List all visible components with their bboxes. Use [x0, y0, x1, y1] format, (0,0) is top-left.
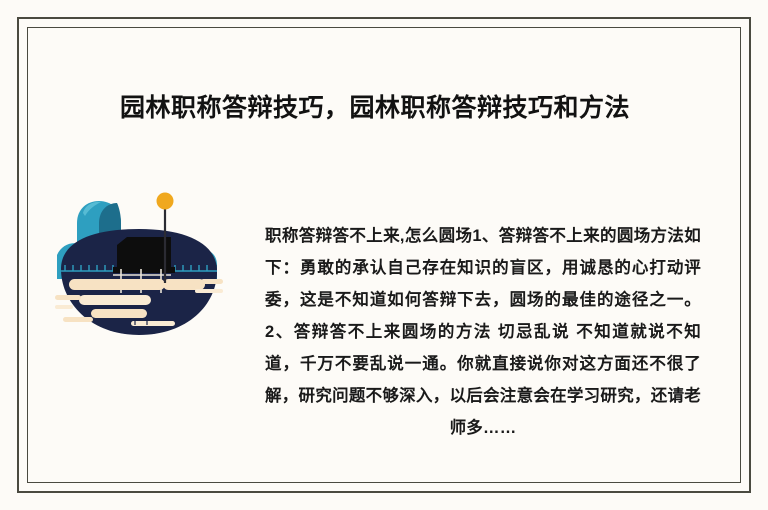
- page-title: 园林职称答辩技巧，园林职称答辩技巧和方法: [120, 91, 680, 125]
- garden-landscape-illustration: [55, 183, 223, 348]
- article-body-text: 职称答辩答不上来,怎么圆场1、答辩答不上来的圆场方法如下：勇敢的承认自己存在知识…: [265, 220, 701, 444]
